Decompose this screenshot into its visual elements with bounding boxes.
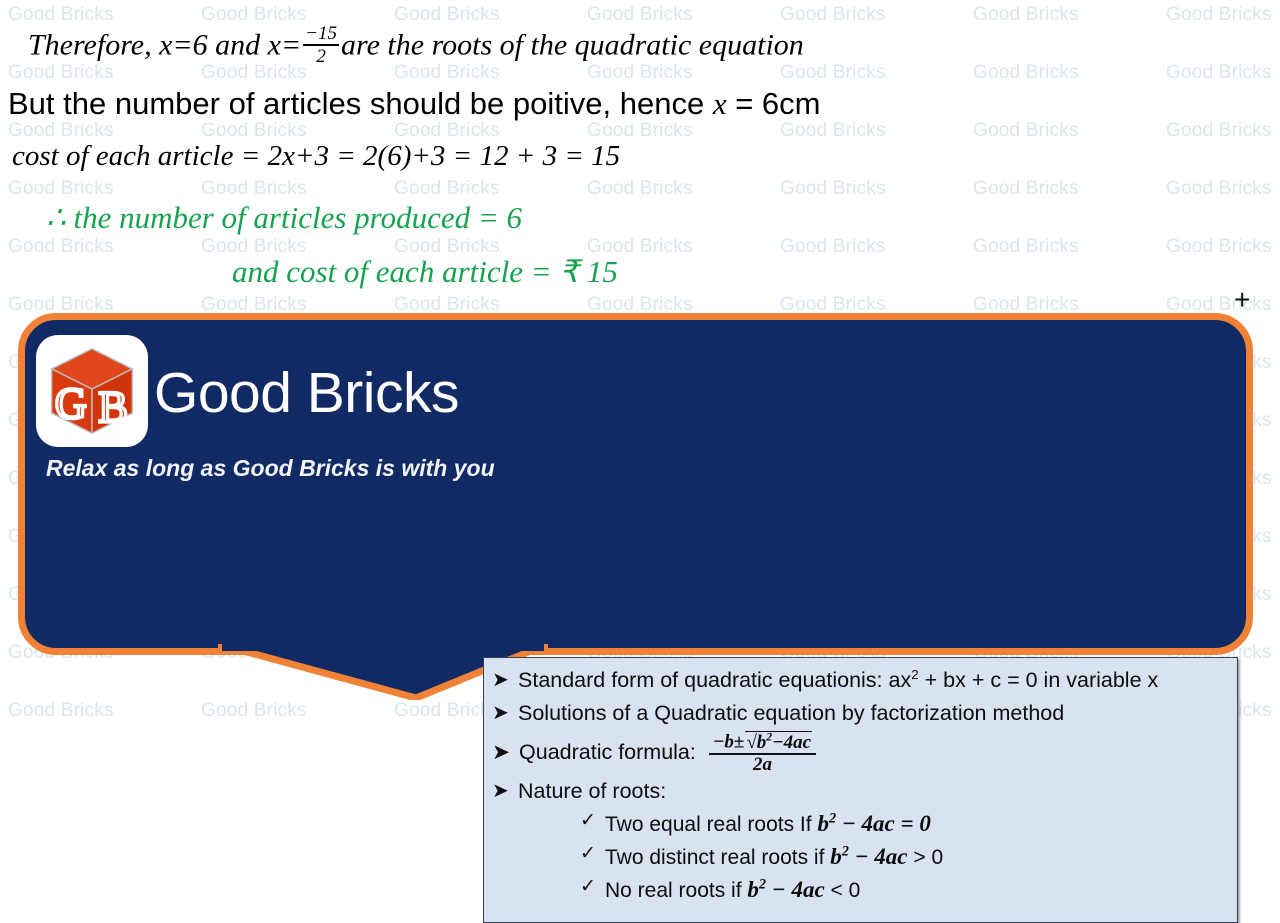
no-real-roots-math: b2 − 4ac — [747, 877, 824, 902]
good-bricks-cube-icon: G B — [36, 335, 148, 447]
equal-roots-lead: Two equal real roots If — [605, 813, 817, 836]
math-b: b — [747, 877, 759, 902]
math-mid: − 4ac — [836, 811, 895, 836]
standard-form-tail: + bx + c = 0 in variable x — [919, 668, 1159, 692]
line-conclusion-articles: ∴ the number of articles produced = 6 — [46, 200, 522, 236]
callout-panel: G B Good Bricks Relax as long as Good Br… — [18, 313, 1253, 655]
summary-bullet-factorization: ➤ Solutions of a Quadratic equation by f… — [492, 699, 1227, 728]
nature-item-text: No real roots if b2 − 4ac < 0 — [605, 875, 860, 905]
math-b: b — [830, 844, 842, 869]
positive-text-b: = 6cm — [727, 86, 821, 121]
nature-item-distinct-roots: ✓ Two distinct real roots if b2 − 4ac > … — [580, 842, 1227, 872]
standard-form-lead: Standard form of quadratic equationis: a… — [518, 668, 911, 692]
brand-tagline: Relax as long as Good Bricks is with you — [46, 455, 466, 482]
summary-bullet-quadratic-formula: ➤ Quadratic formula: −b±√b2−4ac 2a — [492, 731, 1227, 774]
radicand-b: b — [757, 732, 767, 753]
summary-box: ➤ Standard form of quadratic equationis:… — [483, 657, 1238, 923]
line-cost-of-article: cost of each article = 2x+3 = 2(6)+3 = 1… — [12, 140, 620, 173]
svg-text:G: G — [55, 379, 87, 428]
plus-icon: + — [1234, 286, 1250, 314]
radicand-rest: −4ac — [772, 732, 811, 753]
radical-icon: √b2−4ac — [745, 731, 812, 753]
line-positive-constraint: But the number of articles should be poi… — [8, 86, 820, 122]
nature-item-equal-roots: ✓ Two equal real roots If b2 − 4ac = 0 — [580, 809, 1227, 839]
math-tail: < 0 — [825, 879, 861, 902]
brand-wordmark: Good Bricks — [154, 365, 459, 422]
nature-item-text: Two equal real roots If b2 − 4ac = 0 — [605, 809, 931, 839]
quadratic-formula-denominator: 2a — [749, 755, 776, 775]
math-exponent: 2 — [829, 810, 836, 826]
brand-logo-block: G B Good Bricks Relax as long as Good Br… — [36, 335, 466, 495]
summary-bullet-standard-form: ➤ Standard form of quadratic equationis:… — [492, 666, 1227, 695]
line-therefore: Therefore, x=6 and x=−152are the roots o… — [28, 26, 804, 69]
logo-row: G B Good Bricks — [36, 335, 466, 447]
standard-form-exponent: 2 — [911, 667, 918, 682]
fraction-minus-15-over-2: −152 — [303, 24, 339, 67]
check-icon: ✓ — [580, 842, 596, 867]
numerator-lead: −b± — [713, 732, 744, 753]
distinct-roots-math: b2 − 4ac — [830, 844, 907, 869]
summary-bullet-text: Solutions of a Quadratic equation by fac… — [518, 699, 1064, 728]
arrow-bullet-icon: ➤ — [492, 740, 510, 765]
summary-bullet-text: Standard form of quadratic equationis: a… — [518, 666, 1158, 695]
check-icon: ✓ — [580, 809, 596, 834]
line-conclusion-cost: and cost of each article = ₹ 15 — [232, 254, 618, 290]
nature-item-text: Two distinct real roots if b2 − 4ac > 0 — [605, 842, 943, 872]
fraction-numerator: −15 — [303, 24, 339, 43]
math-b: b — [817, 811, 829, 836]
arrow-bullet-icon: ➤ — [492, 777, 509, 805]
arrow-bullet-icon: ➤ — [492, 666, 509, 694]
quadratic-formula-numerator: −b±√b2−4ac — [709, 731, 816, 752]
arrow-bullet-icon: ➤ — [492, 699, 509, 727]
therefore-text-before: Therefore, x=6 and x= — [28, 28, 301, 61]
nature-item-no-real-roots: ✓ No real roots if b2 − 4ac < 0 — [580, 875, 1227, 905]
fraction-denominator: 2 — [314, 47, 328, 66]
quadratic-formula-fraction: −b±√b2−4ac 2a — [709, 731, 816, 774]
math-tail: = 0 — [895, 811, 931, 836]
quadratic-formula-label: Quadratic formula: — [519, 740, 696, 765]
distinct-roots-lead: Two distinct real roots if — [605, 846, 830, 869]
math-mid: − 4ac — [766, 877, 825, 902]
summary-bullet-nature-of-roots: ➤ Nature of roots: — [492, 777, 1227, 806]
math-tail: > 0 — [908, 846, 944, 869]
math-mid: − 4ac — [849, 844, 908, 869]
therefore-text-after: are the roots of the quadratic equation — [341, 28, 804, 61]
svg-text:B: B — [98, 383, 127, 432]
math-exponent: 2 — [759, 876, 766, 892]
no-real-roots-lead: No real roots if — [605, 879, 747, 902]
equal-roots-math: b2 − 4ac = 0 — [817, 811, 930, 836]
math-exponent: 2 — [842, 843, 849, 859]
positive-text-a: But the number of articles should be poi… — [8, 86, 713, 121]
nature-of-roots-label: Nature of roots: — [518, 777, 666, 806]
positive-variable-x: x — [713, 86, 727, 121]
check-icon: ✓ — [580, 875, 596, 900]
